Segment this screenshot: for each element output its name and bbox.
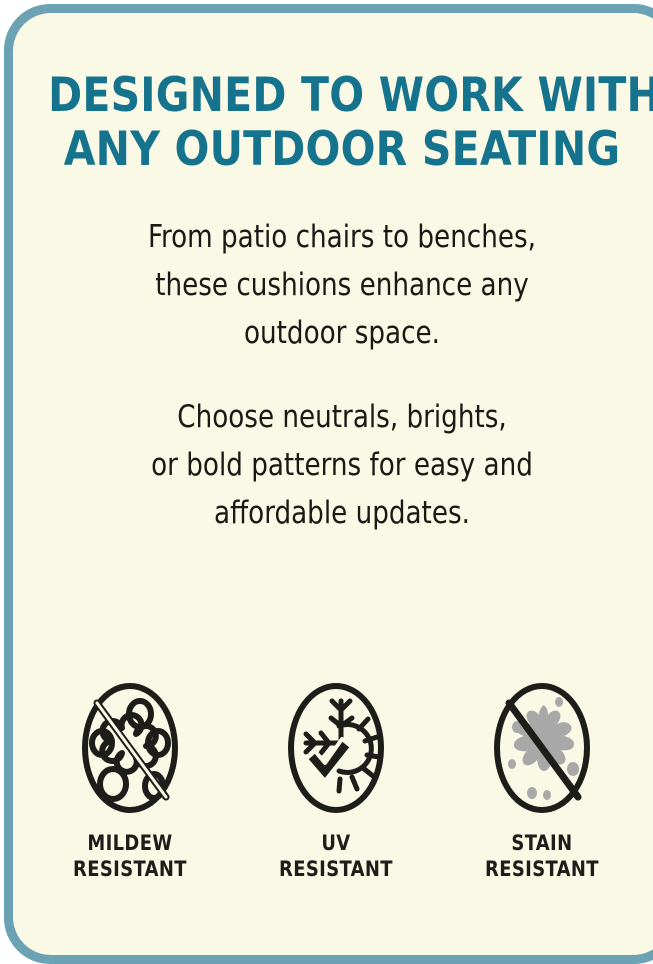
paragraph-1-line-1: From patio chairs to benches, bbox=[70, 214, 613, 262]
page-title: DESIGNED TO WORK WITH ANY OUTDOOR SEATIN… bbox=[23, 13, 653, 176]
card-inner-surface: DESIGNED TO WORK WITH ANY OUTDOOR SEATIN… bbox=[13, 13, 653, 955]
stain-resistant-icon bbox=[490, 681, 594, 815]
paragraph-1-line-3: outdoor space. bbox=[70, 310, 613, 358]
paragraph-2-line-1: Choose neutrals, brights, bbox=[70, 394, 613, 442]
feature-stain-label-line-2: RESISTANT bbox=[485, 856, 599, 882]
feature-mildew-label: MILDEW RESISTANT bbox=[73, 830, 187, 882]
body-paragraph-1: From patio chairs to benches, these cush… bbox=[33, 176, 652, 357]
feature-uv-label-line-2: RESISTANT bbox=[279, 856, 393, 882]
headline-line-2: ANY OUTDOOR SEATING bbox=[48, 123, 636, 177]
feature-mildew-label-line-1: MILDEW bbox=[73, 830, 187, 856]
infographic-card: DESIGNED TO WORK WITH ANY OUTDOOR SEATIN… bbox=[4, 4, 653, 964]
feature-uv-label: UV RESISTANT bbox=[279, 830, 393, 882]
feature-mildew-label-line-2: RESISTANT bbox=[73, 856, 187, 882]
paragraph-2-line-3: affordable updates. bbox=[70, 490, 613, 538]
feature-stain-resistant: STAIN RESISTANT bbox=[467, 681, 617, 882]
mildew-resistant-icon bbox=[78, 681, 182, 815]
feature-uv-label-line-1: UV bbox=[279, 830, 393, 856]
body-paragraph-2: Choose neutrals, brights, or bold patter… bbox=[33, 357, 652, 537]
feature-uv-resistant: UV RESISTANT bbox=[261, 681, 411, 882]
feature-stain-label: STAIN RESISTANT bbox=[485, 830, 599, 882]
feature-badge-row: MILDEW RESISTANT bbox=[13, 681, 653, 882]
paragraph-1-line-2: these cushions enhance any bbox=[70, 262, 613, 310]
headline-line-1: DESIGNED TO WORK WITH bbox=[48, 69, 636, 123]
feature-stain-label-line-1: STAIN bbox=[485, 830, 599, 856]
uv-resistant-icon bbox=[284, 681, 388, 815]
paragraph-2-line-2: or bold patterns for easy and bbox=[70, 442, 613, 490]
feature-mildew-resistant: MILDEW RESISTANT bbox=[55, 681, 205, 882]
